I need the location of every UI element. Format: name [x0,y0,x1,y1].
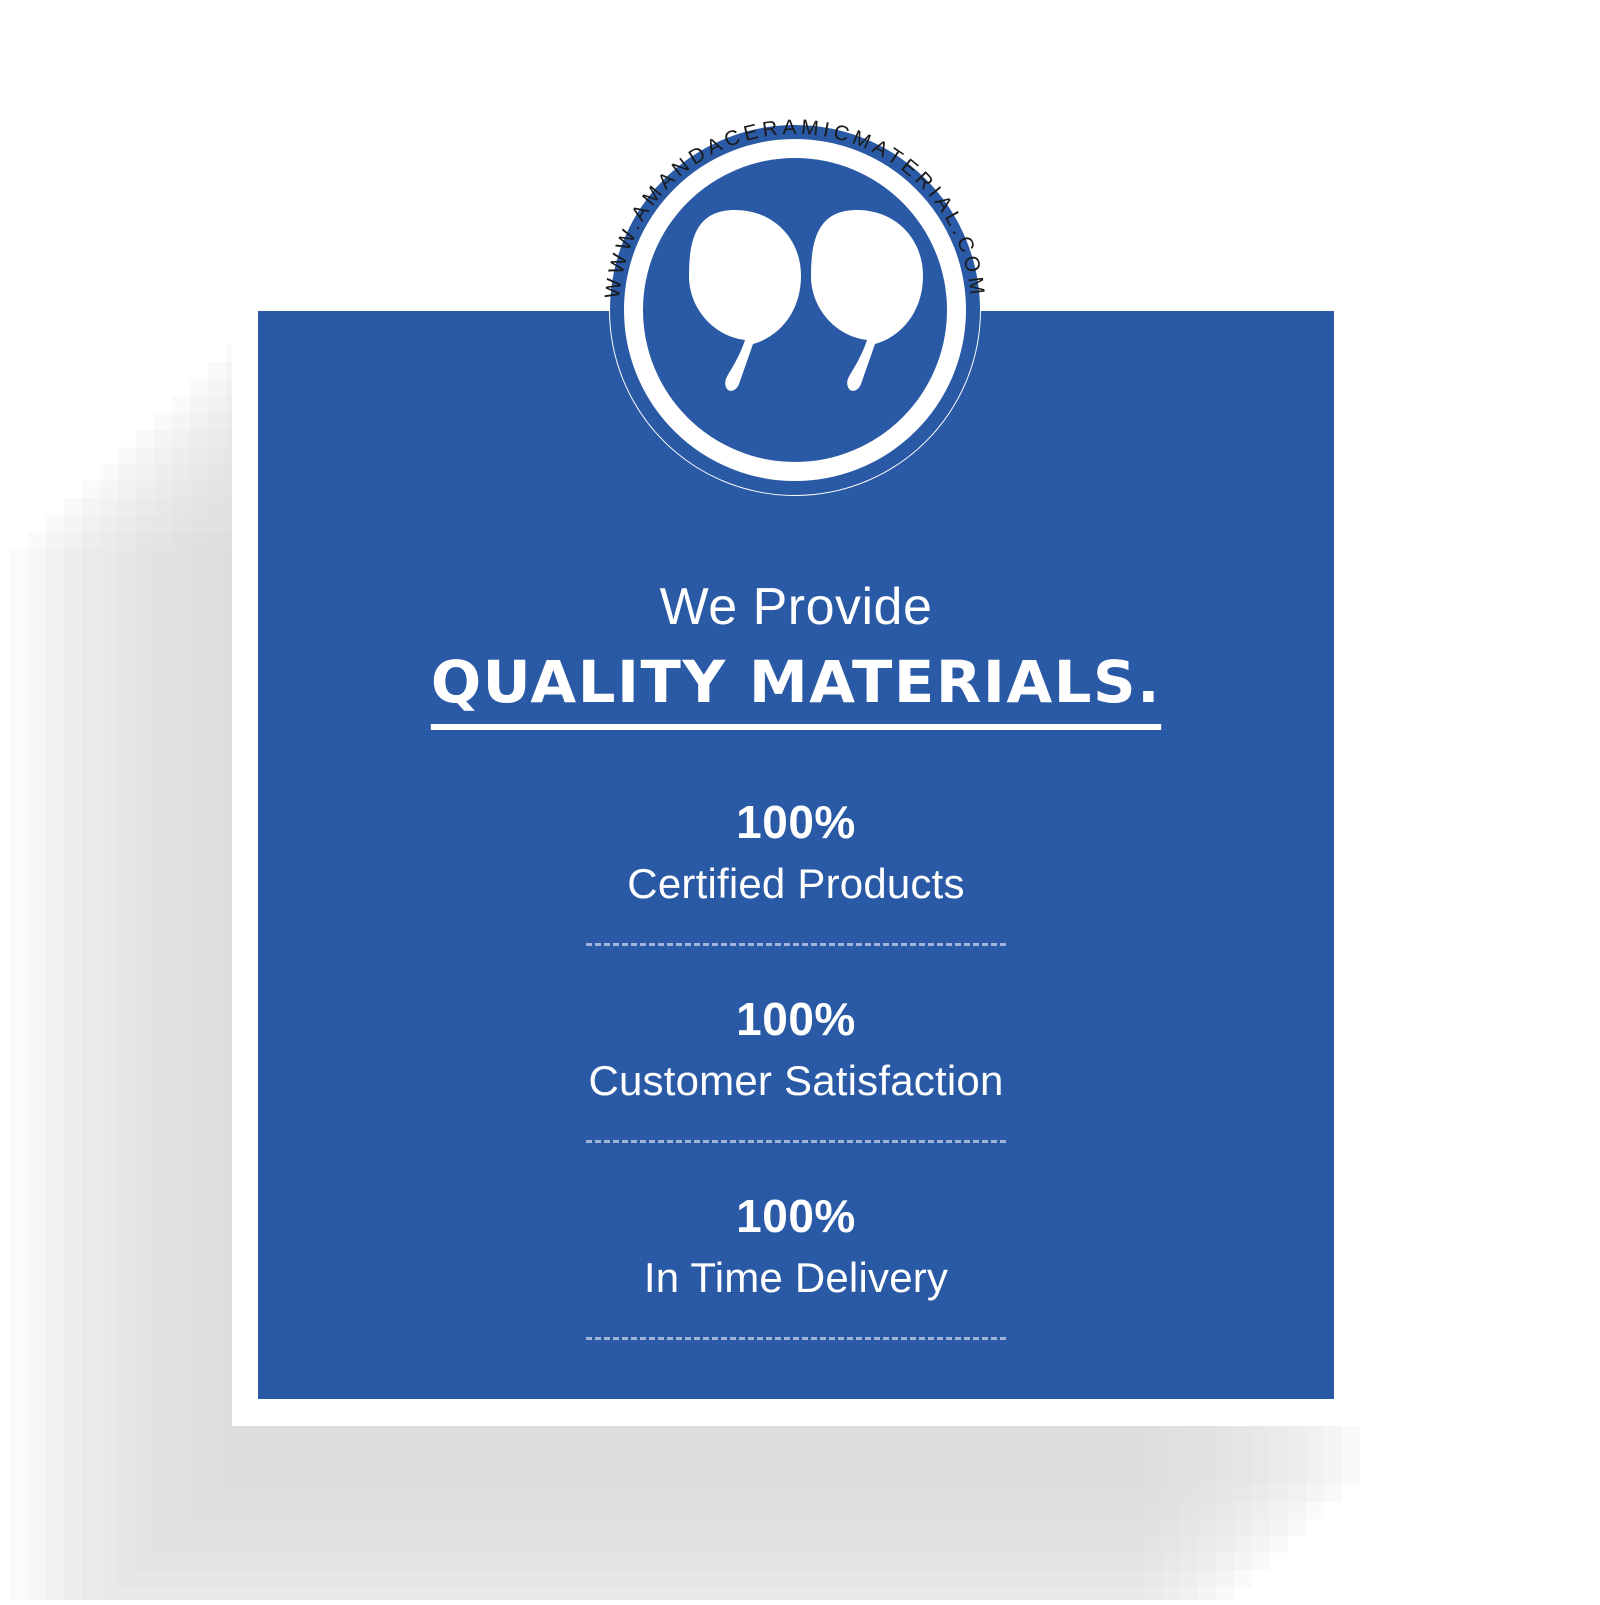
headline-block: We Provide QUALITY MATERIALS. [258,580,1334,730]
logo-badge-svg: WWW.AMANDACERAMICMATERIAL.COM [595,110,995,510]
stats-list: 100% Certified Products 100% Customer Sa… [258,795,1334,1340]
stat-spacer [258,1143,1334,1189]
poster-canvas: WWW.AMANDACERAMICMATERIAL.COM We Provide… [0,0,1600,1600]
stat-item: 100% Customer Satisfaction [258,992,1334,1143]
stat-spacer [258,946,1334,992]
stat-label: Customer Satisfaction [258,1053,1334,1110]
logo-badge: WWW.AMANDACERAMICMATERIAL.COM [595,110,995,510]
stat-label: In Time Delivery [258,1250,1334,1307]
stat-item: 100% In Time Delivery [258,1189,1334,1340]
stat-item: 100% Certified Products [258,795,1334,946]
headline-line-2: QUALITY MATERIALS. [431,651,1161,731]
stat-divider [586,1337,1006,1340]
stat-value: 100% [258,1189,1334,1244]
stat-value: 100% [258,992,1334,1047]
stat-label: Certified Products [258,856,1334,913]
stat-value: 100% [258,795,1334,850]
headline-line-1: We Provide [258,580,1334,635]
